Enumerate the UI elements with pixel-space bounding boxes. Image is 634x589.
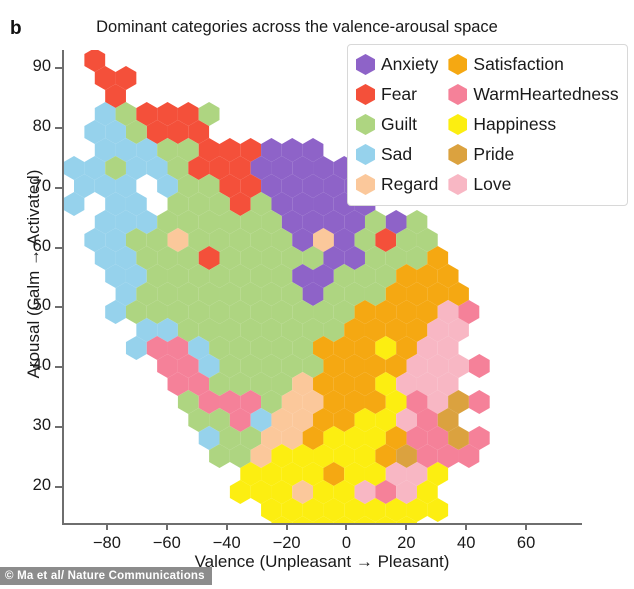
legend-item-sad[interactable]: Sad: [356, 140, 438, 169]
legend-item-satisfaction[interactable]: Satisfaction: [448, 50, 618, 79]
legend-label: Guilt: [381, 114, 417, 135]
y-tick-mark: [55, 486, 62, 488]
y-tick-mark: [55, 67, 62, 69]
x-tick-mark: [465, 523, 467, 530]
legend-label: Fear: [381, 84, 417, 105]
figure-panel: b Dominant categories across the valence…: [0, 0, 634, 589]
x-tick-label: −60: [137, 534, 197, 553]
legend-label: WarmHeartedness: [473, 84, 618, 105]
legend-item-happiness[interactable]: Happiness: [448, 110, 618, 139]
x-tick-mark: [286, 523, 288, 530]
legend-label: Anxiety: [381, 54, 438, 75]
legend-grid: AnxietySatisfactionFearWarmHeartednessGu…: [356, 50, 619, 199]
x-tick-label: 60: [496, 534, 556, 553]
x-tick-label: 0: [316, 534, 376, 553]
x-tick-label: −20: [257, 534, 317, 553]
x-tick-mark: [106, 523, 108, 530]
x-tick-label: 20: [376, 534, 436, 553]
x-tick-label: 40: [436, 534, 496, 553]
y-tick-mark: [55, 306, 62, 308]
x-tick-label: −80: [77, 534, 137, 553]
y-tick-mark: [55, 247, 62, 249]
legend-swatch-hexagon-icon: [356, 144, 375, 165]
legend-swatch-hexagon-icon: [448, 54, 467, 75]
legend: AnxietySatisfactionFearWarmHeartednessGu…: [347, 44, 628, 206]
legend-swatch-hexagon-icon: [448, 114, 467, 135]
legend-item-guilt[interactable]: Guilt: [356, 110, 438, 139]
legend-swatch-hexagon-icon: [448, 144, 467, 165]
x-tick-mark: [166, 523, 168, 530]
y-tick-mark: [55, 187, 62, 189]
panel-label: b: [10, 18, 22, 40]
credit-watermark: © Ma et al/ Nature Communications: [0, 567, 212, 585]
y-tick-mark: [55, 127, 62, 129]
legend-label: Satisfaction: [473, 54, 563, 75]
legend-label: Regard: [381, 174, 438, 195]
legend-item-pride[interactable]: Pride: [448, 140, 618, 169]
hexbin-cell-warmheartedness: [469, 354, 490, 378]
legend-item-regard[interactable]: Regard: [356, 170, 438, 199]
x-tick-mark: [405, 523, 407, 530]
legend-label: Love: [473, 174, 511, 195]
legend-label: Pride: [473, 144, 514, 165]
x-tick-mark: [345, 523, 347, 530]
legend-swatch-hexagon-icon: [356, 114, 375, 135]
legend-item-fear[interactable]: Fear: [356, 80, 438, 109]
legend-label: Sad: [381, 144, 412, 165]
y-axis-spine: [62, 50, 64, 525]
y-axis-label: Arousal (Calm → Activated): [24, 64, 44, 484]
y-tick-mark: [55, 426, 62, 428]
chart-title: Dominant categories across the valence-a…: [62, 18, 532, 37]
legend-swatch-hexagon-icon: [448, 84, 467, 105]
legend-swatch-hexagon-icon: [356, 174, 375, 195]
legend-swatch-hexagon-icon: [356, 84, 375, 105]
hexbin-cell-warmheartedness: [469, 390, 490, 414]
legend-swatch-hexagon-icon: [356, 54, 375, 75]
y-tick-mark: [55, 366, 62, 368]
x-axis-spine: [62, 523, 582, 525]
legend-item-anxiety[interactable]: Anxiety: [356, 50, 438, 79]
x-tick-label: −40: [197, 534, 257, 553]
legend-item-love[interactable]: Love: [448, 170, 618, 199]
legend-label: Happiness: [473, 114, 556, 135]
x-tick-mark: [226, 523, 228, 530]
x-tick-mark: [525, 523, 527, 530]
legend-swatch-hexagon-icon: [448, 174, 467, 195]
legend-item-warmheartedness[interactable]: WarmHeartedness: [448, 80, 618, 109]
